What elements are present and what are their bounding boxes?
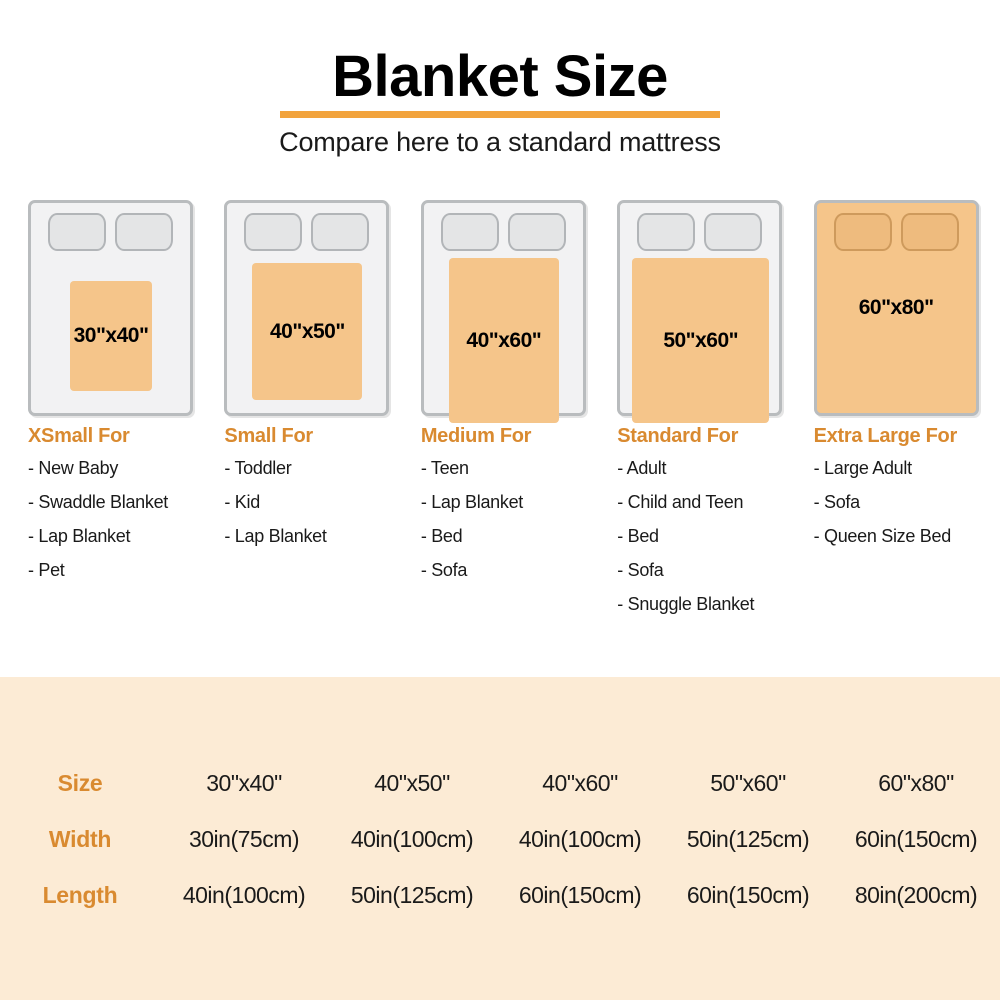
use-case-heading: XSmall For [28,425,214,448]
use-case-item: - Child and Teen [617,493,803,511]
table-row-header: Size [0,755,160,811]
use-case-item: - Snuggle Blanket [617,595,803,613]
use-case-item: - New Baby [28,459,214,477]
table-cell: 80in(200cm) [832,867,1000,923]
pillow-icon [244,213,302,251]
table-cell: 60in(150cm) [664,867,832,923]
size-table-body: Size30"x40"40"x50"40"x60"50"x60"60"x80"W… [0,755,1000,923]
table-cell: 50in(125cm) [328,867,496,923]
table-cell: 40in(100cm) [496,811,664,867]
use-case-list-4: Standard For- Adult- Child and Teen- Bed… [617,425,803,629]
bed-card-5: 60"x80" [814,200,1000,416]
use-case-item: - Sofa [814,493,1000,511]
bed-card-4: 50"x60" [617,200,803,416]
use-case-item: - Large Adult [814,459,1000,477]
page-subtitle: Compare here to a standard mattress [0,127,1000,158]
pillow-icon [311,213,369,251]
bed-card-1: 30"x40" [28,200,214,416]
table-cell: 60in(150cm) [496,867,664,923]
bed-diagram-row: 30"x40"40"x50"40"x60"50"x60"60"x80" [0,200,1000,416]
title-underline-accent [280,111,720,118]
blanket-overlay: 40"x60" [449,258,559,423]
blanket-size-label: 60"x80" [859,296,934,320]
pillow-group [227,213,386,251]
table-cell: 60in(150cm) [832,811,1000,867]
mattress-diagram: 30"x40" [28,200,193,416]
blanket-size-label: 30"x40" [74,324,149,348]
table-cell: 30in(75cm) [160,811,328,867]
use-case-list-1: XSmall For- New Baby- Swaddle Blanket- L… [28,425,214,629]
table-cell: 40in(100cm) [160,867,328,923]
pillow-icon [508,213,566,251]
table-cell: 60"x80" [832,755,1000,811]
table-row-header: Length [0,867,160,923]
blanket-overlay: 60"x80" [817,203,976,413]
use-case-heading: Small For [224,425,410,448]
table-row: Width30in(75cm)40in(100cm)40in(100cm)50i… [0,811,1000,867]
blanket-overlay: 50"x60" [632,258,769,423]
use-case-item: - Lap Blanket [28,527,214,545]
table-row: Size30"x40"40"x50"40"x60"50"x60"60"x80" [0,755,1000,811]
pillow-icon [704,213,762,251]
pillow-icon [637,213,695,251]
use-case-item: - Lap Blanket [224,527,410,545]
use-case-item: - Teen [421,459,607,477]
page-title: Blanket Size [332,48,668,106]
blanket-size-label: 50"x60" [663,329,738,353]
use-case-row: XSmall For- New Baby- Swaddle Blanket- L… [0,425,1000,629]
use-case-list-2: Small For- Toddler- Kid- Lap Blanket [224,425,410,629]
use-case-item: - Swaddle Blanket [28,493,214,511]
use-case-item: - Kid [224,493,410,511]
use-case-heading: Extra Large For [814,425,1000,448]
bed-card-3: 40"x60" [421,200,607,416]
mattress-diagram: 50"x60" [617,200,782,416]
use-case-item: - Bed [421,527,607,545]
pillow-icon [441,213,499,251]
pillow-icon [48,213,106,251]
size-table-band: Size30"x40"40"x50"40"x60"50"x60"60"x80"W… [0,677,1000,1000]
use-case-item: - Pet [28,561,214,579]
use-case-item: - Bed [617,527,803,545]
use-case-item: - Toddler [224,459,410,477]
table-row: Length40in(100cm)50in(125cm)60in(150cm)6… [0,867,1000,923]
mattress-diagram: 40"x50" [224,200,389,416]
use-case-item: - Sofa [617,561,803,579]
use-case-item: - Sofa [421,561,607,579]
use-case-heading: Medium For [421,425,607,448]
table-cell: 40in(100cm) [328,811,496,867]
pillow-icon [115,213,173,251]
pillow-group [620,213,779,251]
use-case-list-5: Extra Large For- Large Adult- Sofa- Quee… [814,425,1000,629]
mattress-diagram: 60"x80" [814,200,979,416]
blanket-size-label: 40"x60" [466,329,541,353]
table-cell: 30"x40" [160,755,328,811]
page-header: Blanket Size Compare here to a standard … [0,0,1000,158]
bed-card-2: 40"x50" [224,200,410,416]
blanket-size-label: 40"x50" [270,320,345,344]
use-case-item: - Adult [617,459,803,477]
use-case-list-3: Medium For- Teen- Lap Blanket- Bed- Sofa [421,425,607,629]
table-cell: 40"x60" [496,755,664,811]
table-cell: 40"x50" [328,755,496,811]
pillow-group [424,213,583,251]
use-case-heading: Standard For [617,425,803,448]
mattress-diagram: 40"x60" [421,200,586,416]
use-case-item: - Queen Size Bed [814,527,1000,545]
blanket-overlay: 30"x40" [70,281,152,391]
table-cell: 50"x60" [664,755,832,811]
table-row-header: Width [0,811,160,867]
size-table: Size30"x40"40"x50"40"x60"50"x60"60"x80"W… [0,755,1000,923]
pillow-group [31,213,190,251]
blanket-overlay: 40"x50" [252,263,362,400]
use-case-item: - Lap Blanket [421,493,607,511]
table-cell: 50in(125cm) [664,811,832,867]
